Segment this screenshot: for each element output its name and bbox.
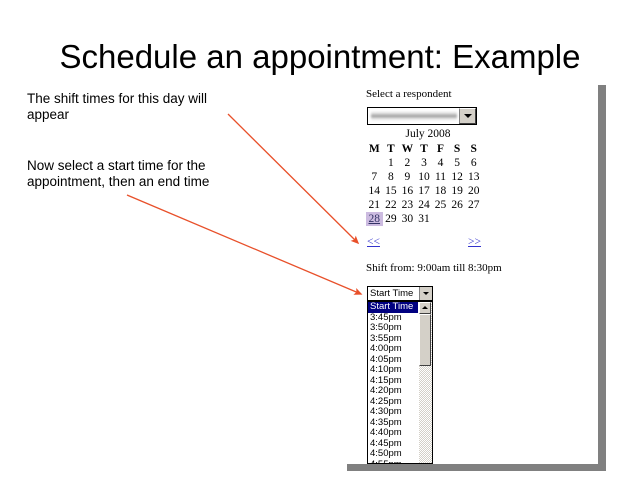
start-time-option-container: Start Time 3:45pm 3:50pm 3:55pm 4:00pm 4… — [368, 302, 418, 463]
start-time-option[interactable]: 4:40pm — [368, 428, 418, 439]
calendar-weekday-header: S — [465, 142, 482, 156]
calendar-day-cell[interactable]: 14 — [366, 184, 383, 198]
start-time-option[interactable]: 4:10pm — [368, 365, 418, 376]
calendar-day-cell[interactable]: 18 — [432, 184, 449, 198]
calendar-week-row: 14 15 16 17 18 19 20 — [366, 184, 482, 198]
arrow-to-calendar — [228, 114, 358, 243]
calendar-day-cell[interactable]: 10 — [416, 170, 433, 184]
arrow-to-start-time — [127, 195, 361, 294]
start-time-option[interactable]: 3:50pm — [368, 323, 418, 334]
calendar-day-cell[interactable]: 19 — [449, 184, 466, 198]
start-time-option[interactable]: 4:00pm — [368, 344, 418, 355]
calendar-day-cell[interactable] — [465, 212, 482, 226]
triangle-up-icon — [422, 306, 428, 309]
calendar-day-cell[interactable]: 13 — [465, 170, 482, 184]
start-time-select[interactable]: Start Time — [367, 286, 433, 301]
shift-times-text: Shift from: 9:00am till 8:30pm — [366, 262, 502, 274]
scrollbar-thumb[interactable] — [419, 314, 431, 366]
annotation-select-start-time: Now select a start time for the appointm… — [27, 158, 242, 190]
calendar-day-cell[interactable]: 26 — [449, 198, 466, 212]
calendar-day-cell[interactable] — [432, 212, 449, 226]
calendar-day-cell[interactable]: 9 — [399, 170, 416, 184]
respondent-dropdown-button[interactable] — [459, 108, 476, 124]
chevron-down-icon — [464, 114, 472, 118]
calendar-navigation: << >> — [367, 236, 481, 248]
calendar-day-cell[interactable]: 8 — [383, 170, 400, 184]
calendar-day-cell[interactable]: 2 — [399, 156, 416, 170]
calendar-day-cell[interactable]: 27 — [465, 198, 482, 212]
calendar-day-cell[interactable]: 15 — [383, 184, 400, 198]
calendar-weekday-row: M T W T F S S — [366, 142, 482, 156]
calendar-week-row: 7 8 9 10 11 12 13 — [366, 170, 482, 184]
calendar-day-cell[interactable]: 4 — [432, 156, 449, 170]
calendar-day-cell[interactable]: 7 — [366, 170, 383, 184]
calendar-day-cell[interactable]: 31 — [416, 212, 433, 226]
calendar-table: M T W T F S S 1 2 3 4 5 6 7 8 9 — [366, 142, 482, 226]
start-time-option[interactable]: Start Time — [368, 302, 418, 313]
calendar-day-cell[interactable] — [366, 156, 383, 170]
panel-shadow-bottom — [347, 464, 606, 471]
calendar-day-cell[interactable]: 21 — [366, 198, 383, 212]
respondent-label: Select a respondent — [366, 88, 452, 100]
start-time-dropdown-button[interactable] — [419, 287, 432, 300]
calendar-day-cell[interactable]: 24 — [416, 198, 433, 212]
scroll-up-button[interactable] — [419, 302, 431, 314]
panel-shadow-right — [598, 85, 606, 471]
calendar-day-cell[interactable]: 1 — [383, 156, 400, 170]
respondent-selected-value — [371, 111, 457, 121]
calendar-day-cell[interactable]: 16 — [399, 184, 416, 198]
calendar-week-row: 28 29 30 31 — [366, 212, 482, 226]
annotation-shift-times: The shift times for this day will appear — [27, 91, 242, 123]
calendar-week-row: 1 2 3 4 5 6 — [366, 156, 482, 170]
calendar-weekday-header: W — [399, 142, 416, 156]
calendar-day-cell[interactable]: 23 — [399, 198, 416, 212]
start-time-option[interactable]: 4:30pm — [368, 407, 418, 418]
calendar-day-cell[interactable]: 11 — [432, 170, 449, 184]
start-time-option[interactable]: 4:20pm — [368, 386, 418, 397]
calendar-day-cell[interactable]: 22 — [383, 198, 400, 212]
calendar-month-label: July 2008 — [366, 128, 484, 140]
calendar-day-cell[interactable]: 29 — [383, 212, 400, 226]
calendar-day-cell[interactable]: 12 — [449, 170, 466, 184]
chevron-down-icon — [423, 292, 429, 295]
calendar-day-cell[interactable]: 17 — [416, 184, 433, 198]
calendar-weekday-header: F — [432, 142, 449, 156]
calendar-widget[interactable]: July 2008 M T W T F S S 1 2 3 4 5 6 — [366, 128, 484, 226]
calendar-weekday-header: T — [383, 142, 400, 156]
start-time-option[interactable]: 4:50pm — [368, 449, 418, 460]
calendar-day-cell[interactable]: 30 — [399, 212, 416, 226]
start-time-selected-value: Start Time — [368, 287, 419, 300]
start-time-dropdown-list[interactable]: Start Time 3:45pm 3:50pm 3:55pm 4:00pm 4… — [367, 301, 433, 464]
calendar-week-row: 21 22 23 24 25 26 27 — [366, 198, 482, 212]
calendar-day-cell[interactable] — [449, 212, 466, 226]
page-title: Schedule an appointment: Example — [0, 38, 640, 76]
calendar-prev-month-link[interactable]: << — [367, 236, 380, 248]
calendar-day-cell-selected[interactable]: 28 — [366, 212, 383, 226]
respondent-select[interactable] — [367, 107, 477, 125]
calendar-next-month-link[interactable]: >> — [468, 236, 481, 248]
calendar-weekday-header: M — [366, 142, 383, 156]
calendar-day-cell[interactable]: 25 — [432, 198, 449, 212]
calendar-weekday-header: S — [449, 142, 466, 156]
calendar-day-cell[interactable]: 5 — [449, 156, 466, 170]
start-time-option[interactable]: 4:55pm — [368, 460, 418, 464]
calendar-day-cell[interactable]: 20 — [465, 184, 482, 198]
calendar-day-cell[interactable]: 6 — [465, 156, 482, 170]
calendar-weekday-header: T — [416, 142, 433, 156]
start-time-scrollbar[interactable] — [418, 302, 432, 463]
calendar-day-cell[interactable]: 3 — [416, 156, 433, 170]
